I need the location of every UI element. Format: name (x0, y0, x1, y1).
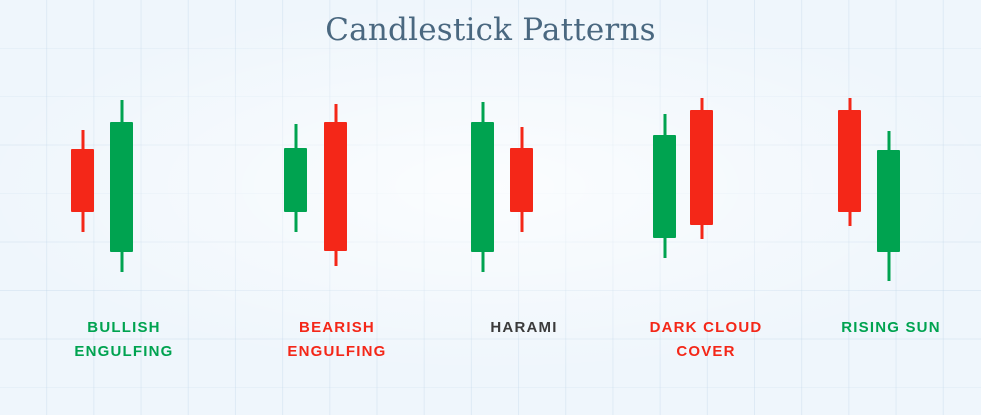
candle-body (71, 149, 94, 212)
pattern-label-line: HARAMI (444, 316, 604, 340)
pattern-label-line: COVER (626, 340, 786, 364)
pattern-label-line: RISING SUN (811, 316, 971, 340)
pattern-group: DARK CLOUDCOVER (626, 0, 786, 415)
page-title: Candlestick Patterns (0, 12, 981, 48)
candle-body (838, 110, 861, 212)
candle-body (471, 122, 494, 252)
candle-body (510, 148, 533, 212)
pattern-label: DARK CLOUDCOVER (626, 316, 786, 364)
candle-body (690, 110, 713, 225)
candlestick-patterns-infographic: Candlestick Patterns BULLISHENGULFINGBEA… (0, 0, 981, 415)
pattern-label-line: DARK CLOUD (626, 316, 786, 340)
pattern-label-line: ENGULFING (257, 340, 417, 364)
pattern-group: BEARISHENGULFING (257, 0, 417, 415)
pattern-label: RISING SUN (811, 316, 971, 340)
candle-body (324, 122, 347, 251)
pattern-label: BEARISHENGULFING (257, 316, 417, 364)
candle-body (877, 150, 900, 252)
candle-body (653, 135, 676, 238)
pattern-group: RISING SUN (811, 0, 971, 415)
pattern-label: BULLISHENGULFING (44, 316, 204, 364)
pattern-group: HARAMI (444, 0, 604, 415)
candle-body (284, 148, 307, 212)
candle-body (110, 122, 133, 252)
pattern-label: HARAMI (444, 316, 604, 340)
pattern-label-line: ENGULFING (44, 340, 204, 364)
pattern-label-line: BEARISH (257, 316, 417, 340)
pattern-label-line: BULLISH (44, 316, 204, 340)
pattern-group: BULLISHENGULFING (44, 0, 204, 415)
